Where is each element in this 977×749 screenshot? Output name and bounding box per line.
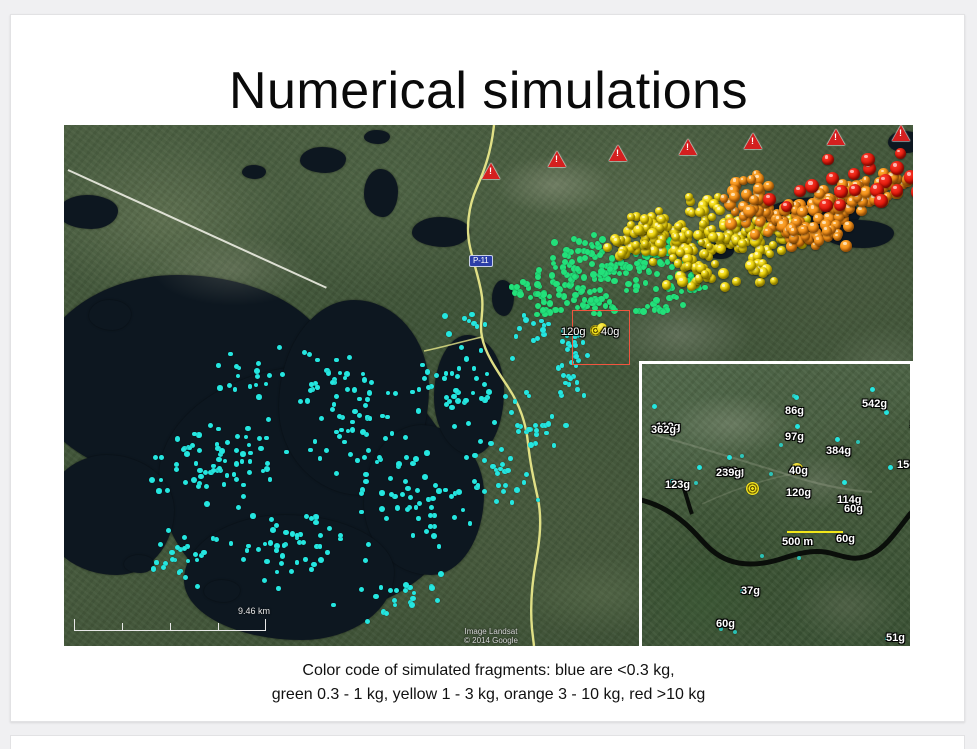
- fragment-sphere-red: [874, 194, 888, 208]
- caption-line-1: Color code of simulated fragments: blue …: [11, 659, 966, 683]
- fragment-dot-blue: [309, 567, 314, 572]
- fragment-dot-blue: [513, 399, 518, 404]
- fragment-dot-blue: [444, 402, 449, 407]
- fragment-dot-blue: [363, 558, 368, 563]
- fragment-dot-green: [576, 238, 583, 245]
- fragment-dot-blue: [169, 550, 174, 555]
- fragment-dot-blue: [315, 385, 320, 390]
- fragment-sphere-red: [834, 185, 848, 199]
- fragment-dot-blue: [315, 358, 320, 363]
- fragment-dot-blue: [348, 452, 353, 457]
- fragment-dot-blue: [355, 458, 360, 463]
- fragment-dot-blue: [233, 387, 238, 392]
- inset-mass-label: 60g: [836, 534, 855, 545]
- fragment-dot-blue: [334, 358, 339, 363]
- warning-triangle-icon[interactable]: [892, 125, 910, 141]
- inset-fragment-dot[interactable]: [795, 424, 800, 429]
- caption-line-2: green 0.3 - 1 kg, yellow 1 - 3 kg, orang…: [11, 683, 966, 707]
- fragment-sphere-yellow: [701, 250, 709, 258]
- fragment-dot-blue: [216, 457, 221, 462]
- inset-mass-label: 239g: [716, 468, 741, 479]
- fragment-sphere-orange: [862, 176, 871, 185]
- inset-fragment-marker-120g[interactable]: [746, 482, 759, 495]
- fragment-dot-green: [605, 276, 611, 282]
- fragment-dot-blue: [247, 470, 252, 475]
- fragment-dot-green: [633, 288, 639, 294]
- fragment-sphere-orange: [755, 217, 765, 227]
- fragment-dot-blue: [500, 462, 505, 467]
- inset-mass-label: 305g: [910, 420, 913, 431]
- inset-fragment-dot[interactable]: [652, 404, 657, 409]
- fragment-dot-green: [582, 240, 588, 246]
- fragment-sphere-yellow: [647, 228, 658, 239]
- fragment-dot-blue: [452, 515, 457, 520]
- fragment-sphere-yellow: [706, 243, 714, 251]
- fragment-dot-green: [580, 302, 585, 307]
- fragment-dot-blue: [403, 582, 409, 588]
- fragment-dot-blue: [422, 376, 427, 381]
- attribution-line-1: Image Landsat: [464, 627, 518, 636]
- fragment-dot-blue: [295, 560, 299, 564]
- fragment-dot-blue: [219, 448, 225, 454]
- map-attribution: Image Landsat © 2014 Google: [464, 627, 518, 645]
- fragment-dot-green: [667, 275, 672, 280]
- fragment-dot-blue: [436, 488, 442, 494]
- fragment-dot-blue: [482, 489, 487, 494]
- fragment-dot-blue: [269, 517, 274, 522]
- inset-closeup-map[interactable]: 542g86g305g119g362g97g384g336g239g156g12…: [639, 361, 913, 646]
- fragment-sphere-yellow: [715, 206, 725, 216]
- fragment-dot-blue: [505, 468, 510, 473]
- fragment-dot-blue: [270, 527, 276, 533]
- fragment-dot-blue: [159, 455, 164, 460]
- inset-mass-label: 40g: [789, 466, 808, 477]
- fragment-dot-blue: [276, 586, 281, 591]
- fragment-dot-blue: [388, 588, 393, 593]
- fragment-sphere-yellow: [687, 282, 696, 291]
- fragment-dot-blue: [309, 382, 314, 387]
- fragment-dot-blue: [303, 557, 308, 562]
- screenshot-viewport: Numerical simulations: [0, 0, 977, 749]
- inset-fragment-dot: [856, 440, 860, 444]
- fragment-dot-green: [562, 259, 568, 265]
- fragment-dot-green: [599, 236, 606, 243]
- fragment-sphere-red: [834, 199, 846, 211]
- map-label: 120g: [561, 327, 585, 338]
- fragment-sphere-red: [805, 179, 819, 193]
- inset-fragment-dot: [792, 394, 796, 398]
- fragment-sphere-yellow: [769, 241, 777, 249]
- fragment-dot-blue: [234, 364, 239, 369]
- fragment-dot-blue: [217, 385, 223, 391]
- fragment-dot-blue: [332, 402, 337, 407]
- fragment-dot-green: [589, 261, 595, 267]
- fragment-dot-blue: [204, 484, 209, 489]
- fragment-sphere-yellow: [701, 270, 709, 278]
- fragment-dot-blue: [444, 371, 449, 376]
- fragment-sphere-yellow: [603, 243, 612, 252]
- fragment-dot-blue: [483, 322, 488, 327]
- fragment-dot-green: [643, 280, 649, 286]
- fragment-dot-blue: [457, 366, 462, 371]
- fragment-sphere-yellow: [758, 267, 768, 277]
- fragment-dot-blue: [280, 553, 285, 558]
- fragment-dot-blue: [468, 521, 473, 526]
- fragment-sphere-yellow: [716, 244, 726, 254]
- fragment-sphere-yellow: [640, 214, 649, 223]
- fragment-dot-blue: [492, 420, 497, 425]
- fragment-dot-blue: [234, 477, 239, 482]
- fragment-sphere-red: [904, 170, 914, 184]
- next-slide-card[interactable]: [10, 735, 965, 749]
- fragment-dot-blue: [154, 560, 158, 564]
- fragment-dot-blue: [522, 480, 526, 484]
- fragment-dot-blue: [389, 492, 394, 497]
- fragment-dot-blue: [228, 352, 232, 356]
- fragment-dot-blue: [431, 533, 437, 539]
- fragment-dot-blue: [268, 540, 274, 546]
- road-shield-p11[interactable]: P-11: [469, 255, 493, 267]
- fragment-dot-green: [540, 291, 547, 298]
- fragment-dot-blue: [217, 466, 222, 471]
- warning-triangle-icon[interactable]: [827, 129, 845, 145]
- fragment-dot-blue: [469, 312, 475, 318]
- inset-fragment-dot: [733, 630, 737, 634]
- fragment-dot-green: [702, 285, 708, 291]
- fragment-dot-blue: [531, 321, 536, 326]
- fragment-dot-green: [611, 278, 618, 285]
- fragment-dot-blue: [405, 507, 410, 512]
- fragment-sphere-yellow: [699, 220, 707, 228]
- fragment-sphere-orange: [753, 183, 764, 194]
- fragment-dot-blue: [196, 432, 201, 437]
- fragment-dot-blue: [216, 427, 221, 432]
- fragment-dot-blue: [400, 492, 405, 497]
- fragment-sphere-red: [794, 185, 806, 197]
- warning-triangle-icon[interactable]: [744, 133, 762, 149]
- fragment-sphere-yellow: [766, 250, 774, 258]
- fragment-sphere-yellow: [633, 225, 643, 235]
- fragment-dot-blue: [177, 570, 182, 575]
- fragment-dot-blue: [363, 472, 369, 478]
- fragment-dot-blue: [246, 544, 251, 549]
- satellite-map[interactable]: P-11 120g 40g 9.46 km Image Lands: [64, 125, 913, 646]
- fragment-dot-blue: [514, 487, 520, 493]
- fragment-dot-blue: [311, 562, 316, 567]
- fragment-dot-green: [598, 296, 604, 302]
- fragment-dot-blue: [318, 533, 323, 538]
- inset-mass-label: 156g: [897, 460, 913, 471]
- fragment-dot-blue: [362, 377, 367, 382]
- fragment-dot-blue: [395, 505, 401, 511]
- fragment-dot-green: [640, 308, 647, 315]
- fragment-dot-blue: [192, 432, 197, 437]
- fragment-dot-blue: [256, 394, 262, 400]
- fragment-dot-blue: [204, 501, 210, 507]
- fragment-dot-blue: [510, 500, 515, 505]
- fragment-sphere-yellow: [745, 260, 756, 271]
- fragment-dot-blue: [208, 423, 213, 428]
- fragment-sphere-yellow: [695, 207, 705, 217]
- fragment-dot-blue: [337, 434, 342, 439]
- attribution-line-2: © 2014 Google: [464, 636, 518, 645]
- fragment-dot-green: [590, 271, 597, 278]
- fragment-dot-blue: [446, 331, 452, 337]
- inset-fragment-dot[interactable]: [870, 387, 875, 392]
- fragment-dot-blue: [429, 585, 435, 591]
- fragment-sphere-orange: [840, 240, 852, 252]
- fragment-dot-blue: [558, 390, 563, 395]
- fragment-dot-blue: [443, 488, 448, 493]
- inset-mass-label: 542g: [862, 399, 887, 410]
- fragment-dot-green: [579, 288, 585, 294]
- fragment-dot-blue: [479, 348, 484, 353]
- fragment-dot-blue: [216, 363, 221, 368]
- fragment-dot-blue: [442, 313, 448, 319]
- fragment-dot-blue: [201, 550, 206, 555]
- fragment-dot-blue: [223, 459, 228, 464]
- warning-triangle-icon[interactable]: [679, 139, 697, 155]
- fragment-dot-blue: [350, 427, 356, 433]
- fragment-dot-blue: [565, 347, 570, 352]
- fragment-dot-blue: [560, 363, 565, 368]
- fragment-dot-blue: [450, 371, 455, 376]
- fragment-dot-blue: [482, 382, 487, 387]
- fragment-dot-green: [654, 271, 660, 277]
- fragment-sphere-orange: [747, 175, 756, 184]
- fragment-dot-blue: [248, 384, 253, 389]
- fragment-dot-blue: [464, 356, 469, 361]
- map-scale-label: 9.46 km: [238, 606, 270, 616]
- page-title: Numerical simulations: [11, 61, 966, 121]
- fragment-dot-green: [547, 300, 554, 307]
- fragment-dot-blue: [479, 396, 484, 401]
- fragment-dot-blue: [373, 594, 379, 600]
- fragment-dot-blue: [410, 596, 416, 602]
- fragment-sphere-yellow: [708, 213, 716, 221]
- fragment-sphere-orange: [749, 195, 759, 205]
- fragment-dot-green: [534, 312, 539, 317]
- fragment-dot-blue: [232, 472, 237, 477]
- fragment-dot-blue: [338, 533, 343, 538]
- inset-mass-label: 60g: [844, 504, 863, 515]
- fragment-dot-blue: [475, 324, 480, 329]
- fragment-sphere-orange: [822, 226, 832, 236]
- inset-fragment-dot[interactable]: [842, 480, 847, 485]
- fragment-dot-green: [534, 281, 541, 288]
- fragment-dot-blue: [234, 461, 239, 466]
- fragment-dot-blue: [240, 459, 245, 464]
- fragment-dot-blue: [357, 397, 362, 402]
- fragment-dot-blue: [161, 565, 166, 570]
- fragment-dot-blue: [318, 557, 324, 563]
- fragment-dot-blue: [264, 559, 270, 565]
- fragment-dot-blue: [404, 455, 409, 460]
- fragment-dot-blue: [241, 494, 246, 499]
- inset-mass-label: 86g: [785, 406, 804, 417]
- fragment-dot-green: [535, 291, 541, 297]
- fragment-dot-blue: [313, 514, 318, 519]
- fragment-sphere-red: [891, 184, 903, 196]
- fragment-dot-blue: [546, 322, 551, 327]
- fragment-dot-blue: [274, 548, 279, 553]
- figure-caption: Color code of simulated fragments: blue …: [11, 659, 966, 707]
- fragment-dot-blue: [158, 542, 164, 548]
- fragment-dot-blue: [516, 429, 521, 434]
- fragment-dot-blue: [225, 440, 230, 445]
- fragment-dot-blue: [413, 456, 419, 462]
- fragment-dot-blue: [360, 429, 366, 435]
- fragment-dot-blue: [449, 405, 454, 410]
- inset-mass-label: 97g: [785, 432, 804, 443]
- inset-scale-bar: [787, 531, 843, 533]
- fragment-dot-blue: [472, 453, 478, 459]
- fragment-dot-blue: [250, 513, 256, 519]
- fragment-sphere-red: [895, 148, 906, 159]
- fragment-dot-green: [575, 248, 581, 254]
- fragment-dot-green: [547, 309, 554, 316]
- fragment-dot-blue: [388, 476, 393, 481]
- fragment-dot-blue: [476, 483, 481, 488]
- inset-fragment-dot[interactable]: [884, 410, 889, 415]
- fragment-dot-blue: [523, 317, 529, 323]
- inset-fragment-dot: [760, 554, 764, 558]
- fragment-dot-blue: [403, 435, 408, 440]
- inset-fragment-dot: [797, 556, 801, 560]
- fragment-dot-blue: [256, 361, 261, 366]
- fragment-dot-blue: [308, 388, 313, 393]
- fragment-dot-blue: [367, 390, 372, 395]
- fragment-dot-blue: [365, 397, 370, 402]
- fragment-dot-blue: [197, 448, 202, 453]
- fragment-sphere-yellow: [732, 277, 741, 286]
- fragment-dot-blue: [449, 494, 454, 499]
- fragment-dot-green: [540, 307, 546, 313]
- inset-mass-label: 120g: [786, 488, 811, 499]
- fragment-dot-blue: [241, 483, 246, 488]
- inset-mass-label: 37g: [741, 586, 760, 597]
- fragment-dot-blue: [451, 394, 457, 400]
- fragment-dot-blue: [197, 468, 202, 473]
- warning-triangle-icon[interactable]: [548, 151, 566, 167]
- fragment-dot-blue: [363, 479, 368, 484]
- fragment-sphere-red: [819, 199, 833, 213]
- fragment-dot-blue: [334, 394, 339, 399]
- fragment-dot-green: [541, 300, 547, 306]
- fragment-dot-blue: [428, 524, 433, 529]
- fragment-dot-green: [581, 274, 588, 281]
- fragment-dot-blue: [575, 387, 580, 392]
- fragment-dot-blue: [325, 550, 330, 555]
- fragment-sphere-orange: [725, 218, 737, 230]
- fragment-dot-green: [653, 286, 659, 292]
- fragment-dot-blue: [282, 543, 287, 548]
- fragment-dot-green: [625, 281, 632, 288]
- fragment-dot-blue: [302, 350, 307, 355]
- map-label: 40g: [601, 327, 619, 338]
- fragment-dot-blue: [184, 451, 190, 457]
- fragment-dot-blue: [264, 436, 269, 441]
- fragment-dot-green: [517, 291, 524, 298]
- fragment-dot-blue: [568, 376, 573, 381]
- fragment-dot-blue: [268, 477, 273, 482]
- fragment-dot-blue: [424, 450, 430, 456]
- inset-fragment-dot[interactable]: [697, 465, 702, 470]
- fragment-dot-blue: [508, 456, 513, 461]
- fragment-sphere-red: [890, 161, 904, 175]
- warning-triangle-icon[interactable]: [482, 163, 500, 179]
- fragment-dot-blue: [359, 510, 364, 515]
- fragment-sphere-orange: [750, 229, 761, 240]
- fragment-dot-blue: [582, 393, 587, 398]
- fragment-dot-blue: [156, 488, 162, 494]
- fragment-dot-blue: [496, 483, 501, 488]
- fragment-sphere-orange: [856, 206, 867, 217]
- fragment-dot-blue: [560, 339, 565, 344]
- fragment-sphere-red: [826, 172, 839, 185]
- fragment-dot-blue: [546, 421, 552, 427]
- slide-card: Numerical simulations: [10, 14, 965, 722]
- fragment-dot-blue: [280, 372, 285, 377]
- fragment-sphere-red: [861, 153, 875, 167]
- fragment-dot-blue: [174, 467, 179, 472]
- fragment-dot-blue: [379, 506, 385, 512]
- fragment-dot-green: [653, 297, 660, 304]
- fragment-sphere-yellow: [757, 278, 765, 286]
- fragment-sphere-yellow: [662, 280, 672, 290]
- fragment-dot-blue: [442, 376, 447, 381]
- fragment-sphere-yellow: [777, 246, 786, 255]
- fragment-sphere-yellow: [632, 241, 640, 249]
- inset-mass-label: 51g: [886, 633, 905, 644]
- fragment-dot-blue: [438, 571, 444, 577]
- fragment-dot-blue: [414, 505, 419, 510]
- fragment-dot-green: [571, 297, 577, 303]
- fragment-dot-green: [551, 239, 558, 246]
- fragment-dot-blue: [379, 490, 385, 496]
- fragment-dot-blue: [561, 373, 566, 378]
- fragment-dot-blue: [264, 466, 270, 472]
- fragment-dot-blue: [456, 489, 462, 495]
- inset-fragment-dot[interactable]: [888, 465, 893, 470]
- fragment-sphere-yellow: [738, 239, 747, 248]
- fragment-dot-blue: [337, 414, 342, 419]
- fragment-dot-blue: [324, 448, 329, 453]
- fragment-dot-blue: [509, 410, 514, 415]
- fragment-dot-blue: [495, 471, 500, 476]
- fragment-dot-blue: [211, 468, 216, 473]
- fragment-sphere-orange: [720, 194, 729, 203]
- inset-fragment-dot[interactable]: [727, 455, 732, 460]
- fragment-dot-blue: [544, 431, 548, 435]
- fragment-dot-blue: [305, 398, 311, 404]
- fragment-sphere-yellow: [718, 268, 729, 279]
- fragment-dot-blue: [229, 541, 234, 546]
- fragment-dot-green: [633, 277, 639, 283]
- fragment-dot-blue: [326, 371, 331, 376]
- fragment-dot-green: [514, 284, 520, 290]
- fragment-dot-blue: [254, 368, 260, 374]
- fragment-dot-blue: [396, 461, 402, 467]
- fragment-dot-blue: [499, 447, 504, 452]
- fragment-sphere-yellow: [685, 193, 693, 201]
- fragment-dot-blue: [462, 316, 467, 321]
- inset-fragment-dot[interactable]: [835, 437, 840, 442]
- fragment-dot-blue: [409, 602, 415, 608]
- warning-triangle-icon[interactable]: [609, 145, 627, 161]
- fragment-dot-blue: [191, 477, 197, 483]
- fragment-dot-blue: [486, 389, 492, 395]
